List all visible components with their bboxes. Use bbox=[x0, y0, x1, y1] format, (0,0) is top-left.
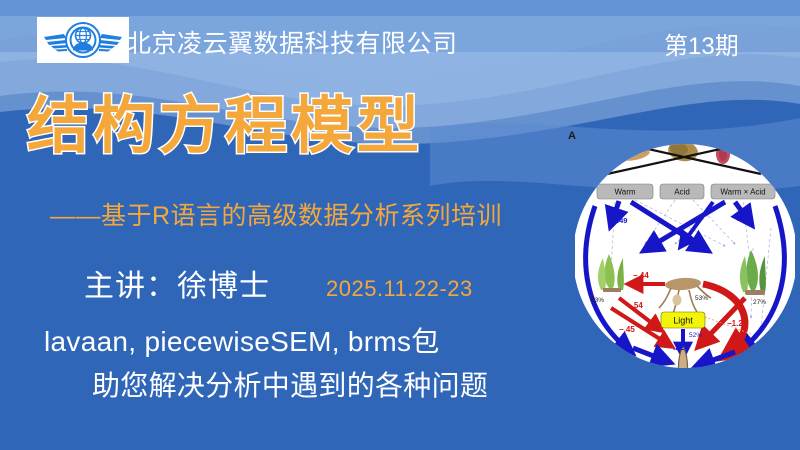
coef-warmacid-right-seaweed: .53 bbox=[737, 214, 747, 223]
treatment-label-warm: Warm bbox=[614, 188, 635, 197]
treatment-label-acid: Acid bbox=[674, 188, 690, 197]
treatment-box-warm-acid: Warm × Acid bbox=[711, 184, 775, 199]
course-date: 2025.11.22-23 bbox=[326, 276, 473, 302]
treatment-label-warm-acid: Warm × Acid bbox=[720, 188, 765, 197]
figure-caption-top: Mesograzers absent bbox=[644, 126, 726, 136]
poster-canvas: 北京凌云翼数据科技有限公司 第13期 结构方程模型 ——基于R语言的高级数据分析… bbox=[0, 0, 800, 450]
coef-warm-left-seaweed: .49 bbox=[617, 216, 627, 225]
company-name: 北京凌云翼数据科技有限公司 bbox=[126, 24, 458, 60]
r2-algal-biomass: 85% bbox=[678, 375, 691, 382]
r2-left-seaweed: 63% bbox=[591, 297, 604, 304]
issue-badge: 第13期 bbox=[664, 26, 739, 61]
r2-right-seaweed: 27% bbox=[753, 299, 766, 306]
r2-light: 52% bbox=[689, 332, 702, 339]
coef-grazer-left-seaweed: −.44 bbox=[633, 271, 649, 280]
treatment-box-acid: Acid bbox=[660, 184, 704, 199]
benefit-line: 助您解决分析中遇到的各种问题 bbox=[92, 364, 488, 404]
r2-grazer: 53% bbox=[695, 295, 708, 302]
light-label: Light bbox=[673, 316, 693, 326]
presenter-row: 主讲：徐博士 2025.11.22-23 bbox=[84, 261, 473, 305]
figure-caption-bottom: Benthic microalgal biomass bbox=[632, 385, 739, 393]
coef-right-seaweed-algae: −1.27 bbox=[727, 319, 748, 328]
page-subtitle: ——基于R语言的高级数据分析系列培训 bbox=[50, 196, 502, 232]
winged-globe-icon bbox=[42, 20, 124, 60]
coef-light-algae: .22 bbox=[673, 343, 685, 352]
coef-grazer-light: −.54 bbox=[627, 301, 643, 310]
coef-left-lower: −.76 bbox=[597, 338, 612, 355]
presenter-name: 主讲：徐博士 bbox=[84, 261, 270, 305]
poster-header: 北京凌云翼数据科技有限公司 第13期 bbox=[0, 0, 800, 86]
coef-seaweed-light: −.45 bbox=[619, 325, 635, 334]
packages-line: lavaan, piecewiseSEM, brms包 bbox=[44, 320, 440, 360]
company-logo bbox=[37, 17, 129, 63]
treatment-box-warm: Warm bbox=[597, 184, 653, 199]
coef-right-lower: 1.40 bbox=[755, 351, 770, 368]
sem-path-diagram: Mesograzers absent Warm bbox=[575, 118, 795, 393]
light-variable-box: Light bbox=[661, 312, 705, 328]
page-title: 结构方程模型 bbox=[27, 96, 423, 158]
